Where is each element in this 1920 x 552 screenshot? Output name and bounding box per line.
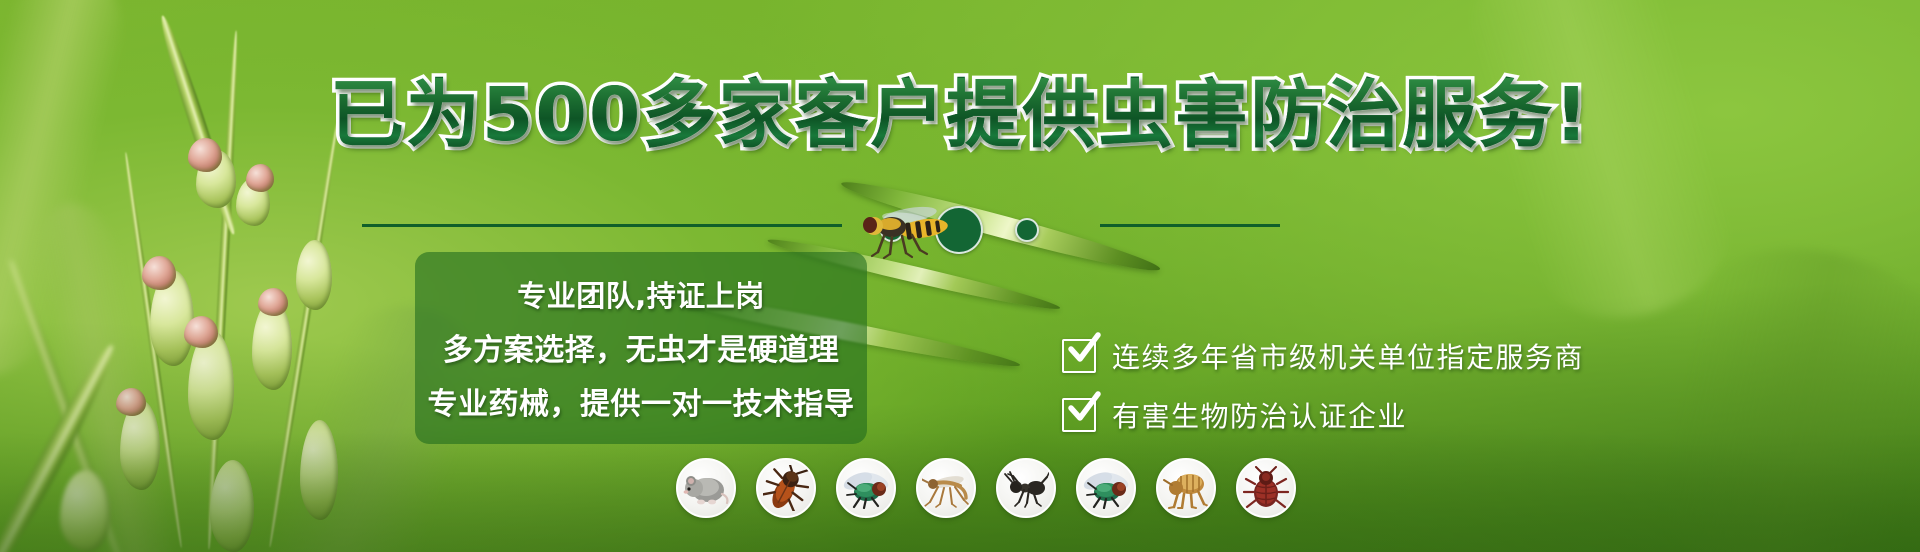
divider-rule-left xyxy=(362,224,842,227)
hoverfly-icon xyxy=(848,198,958,268)
panel-line-3: 专业药械，提供一对一技术指导 xyxy=(428,379,855,423)
checkbox-checked-icon xyxy=(1062,339,1096,373)
checklist-label: 连续多年省市级机关单位指定服务商 xyxy=(1112,336,1584,376)
checkmark-icon xyxy=(1067,391,1101,425)
mouse-icon[interactable] xyxy=(676,458,736,518)
checkbox-checked-icon xyxy=(1062,398,1096,432)
mosquito-icon[interactable] xyxy=(916,458,976,518)
fly-icon[interactable] xyxy=(836,458,896,518)
cockroach-icon[interactable] xyxy=(756,458,816,518)
page-title-outline: 已为500多家客户提供虫害防治服务! xyxy=(0,78,1920,152)
checklist-item: 有害生物防治认证企业 xyxy=(1062,391,1584,439)
fly-icon[interactable] xyxy=(1076,458,1136,518)
ant-icon[interactable] xyxy=(996,458,1056,518)
panel-line-1: 专业团队,持证上岗 xyxy=(517,273,765,315)
bedbug-icon[interactable] xyxy=(1236,458,1296,518)
divider-rule-right xyxy=(1100,224,1280,227)
divider xyxy=(0,205,1920,245)
pest-icon-row xyxy=(676,458,1296,518)
flea-icon[interactable] xyxy=(1156,458,1216,518)
decorative-dot-small xyxy=(1015,218,1039,242)
checkmark-icon xyxy=(1067,332,1101,366)
checklist-item: 连续多年省市级机关单位指定服务商 xyxy=(1062,332,1584,380)
certification-checklist: 连续多年省市级机关单位指定服务商 有害生物防治认证企业 xyxy=(1062,332,1584,450)
selling-points-panel: 专业团队,持证上岗 多方案选择，无虫才是硬道理 专业药械，提供一对一技术指导 xyxy=(415,252,867,444)
panel-line-2: 多方案选择，无虫才是硬道理 xyxy=(443,325,840,369)
checklist-label: 有害生物防治认证企业 xyxy=(1112,395,1407,435)
pest-control-banner: 已为500多家客户提供虫害防治服务! 已为500多家客户提供虫害防治服务! 专业… xyxy=(0,0,1920,552)
